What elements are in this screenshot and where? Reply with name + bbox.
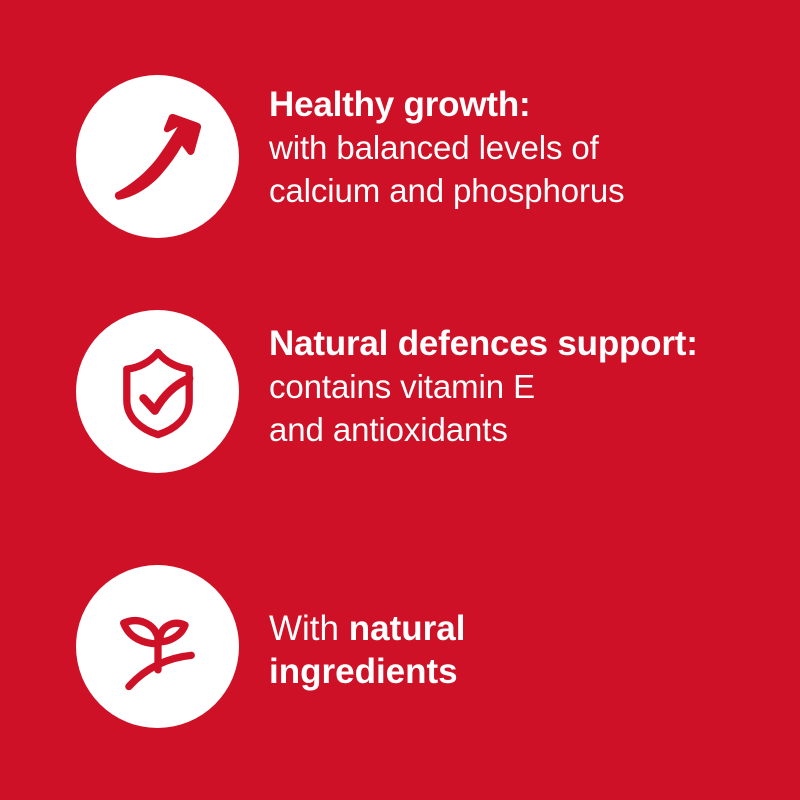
benefit-subline-1: contains vitamin E (269, 365, 800, 408)
benefit-item-natural-ingredients: With natural ingredients (0, 565, 800, 728)
icon-badge-sprout (76, 565, 239, 728)
icon-badge-growth (76, 75, 239, 238)
growth-arrow-icon (106, 105, 210, 209)
benefit-headline: Natural defences support: (269, 322, 800, 365)
benefit-headline-mixed: With natural ingredients (269, 607, 599, 693)
benefit-item-natural-defences: Natural defences support: contains vitam… (0, 310, 800, 473)
benefit-lead-text: With (269, 609, 349, 648)
benefit-text-healthy-growth: Healthy growth: with balanced levels of … (269, 75, 800, 212)
benefit-item-healthy-growth: Healthy growth: with balanced levels of … (0, 75, 800, 238)
benefit-subline-1: with balanced levels of (269, 126, 800, 169)
benefit-subline-2: calcium and phosphorus (269, 169, 800, 212)
benefits-panel: Healthy growth: with balanced levels of … (0, 0, 800, 800)
sprout-plant-icon (106, 595, 210, 699)
benefit-subline-2: and antioxidants (269, 408, 800, 451)
benefit-text-natural-defences: Natural defences support: contains vitam… (269, 310, 800, 451)
shield-check-icon (106, 340, 210, 444)
benefit-headline: Healthy growth: (269, 83, 800, 126)
benefit-text-natural-ingredients: With natural ingredients (269, 565, 800, 693)
icon-badge-shield (76, 310, 239, 473)
